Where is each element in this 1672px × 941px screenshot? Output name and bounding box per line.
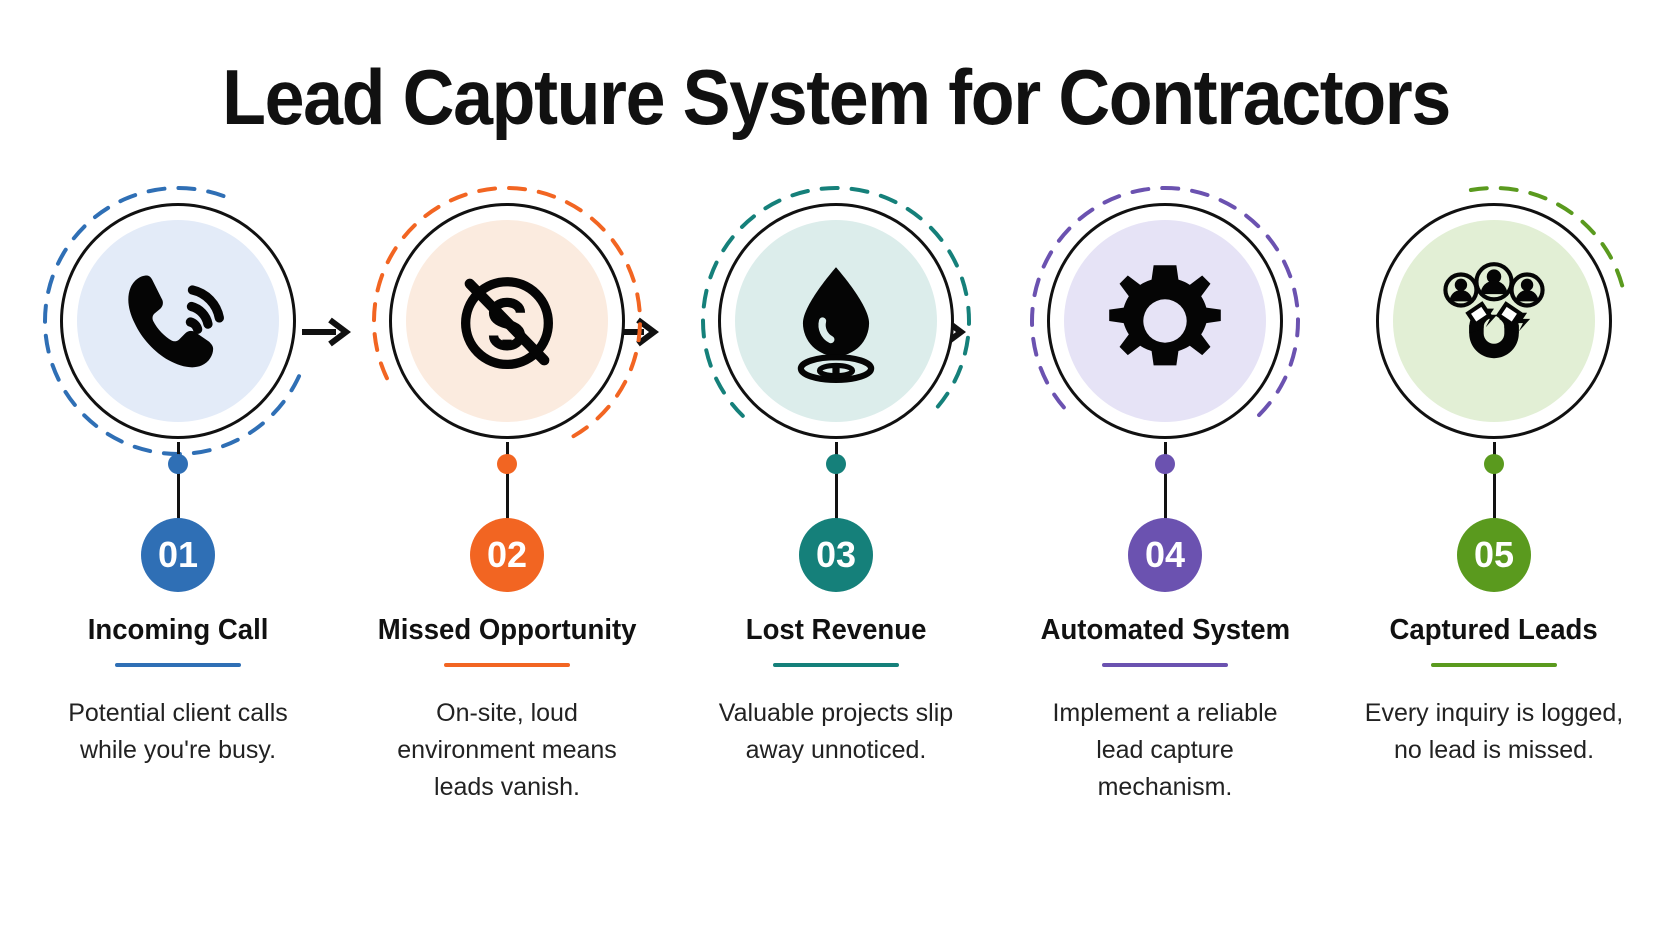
- step-2-circle: [382, 196, 632, 446]
- step-4-circle: [1040, 196, 1290, 446]
- step-2-title: Missed Opportunity: [378, 614, 637, 647]
- steps-row: 01 Incoming Call Potential client calls …: [28, 196, 1644, 836]
- step-5-description: Every inquiry is logged, no lead is miss…: [1364, 695, 1624, 769]
- magnet-leads-icon: [1432, 259, 1556, 383]
- step-item-5[interactable]: 05 Captured Leads Every inquiry is logge…: [1344, 196, 1644, 769]
- step-1-divider: [115, 663, 241, 667]
- step-3-number-badge: 03: [799, 518, 873, 592]
- step-item-4[interactable]: 04 Automated System Implement a reliable…: [1015, 196, 1315, 806]
- step-5-title: Captured Leads: [1390, 614, 1598, 647]
- step-2-connector: [492, 442, 522, 520]
- step-3-divider: [773, 663, 899, 667]
- infographic-canvas: Lead Capture System for Contractors: [0, 0, 1672, 941]
- step-1-number-badge: 01: [141, 518, 215, 592]
- step-2-number-badge: 02: [470, 518, 544, 592]
- step-2-description: On-site, loud environment means leads va…: [377, 695, 637, 806]
- step-4-divider: [1102, 663, 1228, 667]
- step-1-circle: [53, 196, 303, 446]
- step-3-title: Lost Revenue: [746, 614, 927, 647]
- step-3-circle: [711, 196, 961, 446]
- step-4-title: Automated System: [1040, 614, 1290, 647]
- step-3-description: Valuable projects slip away unnoticed.: [706, 695, 966, 769]
- step-3-connector: [821, 442, 851, 520]
- water-drop-ripple-icon: [774, 259, 898, 383]
- step-5-connector: [1479, 442, 1509, 520]
- step-1-connector: [163, 442, 193, 520]
- step-4-connector: [1150, 442, 1180, 520]
- step-item-3[interactable]: 03 Lost Revenue Valuable projects slip a…: [686, 196, 986, 769]
- phone-ringing-icon: [116, 259, 240, 383]
- step-4-description: Implement a reliable lead capture mechan…: [1035, 695, 1295, 806]
- step-5-divider: [1431, 663, 1557, 667]
- step-5-circle: [1369, 196, 1619, 446]
- step-1-title: Incoming Call: [88, 614, 269, 647]
- page-title: Lead Capture System for Contractors: [67, 52, 1605, 143]
- step-5-number-badge: 05: [1457, 518, 1531, 592]
- step-4-number-badge: 04: [1128, 518, 1202, 592]
- step-item-1[interactable]: 01 Incoming Call Potential client calls …: [28, 196, 328, 769]
- gear-icon: [1103, 259, 1227, 383]
- no-money-icon: [445, 259, 569, 383]
- step-2-divider: [444, 663, 570, 667]
- step-1-description: Potential client calls while you're busy…: [48, 695, 308, 769]
- step-item-2[interactable]: 02 Missed Opportunity On-site, loud envi…: [357, 196, 657, 806]
